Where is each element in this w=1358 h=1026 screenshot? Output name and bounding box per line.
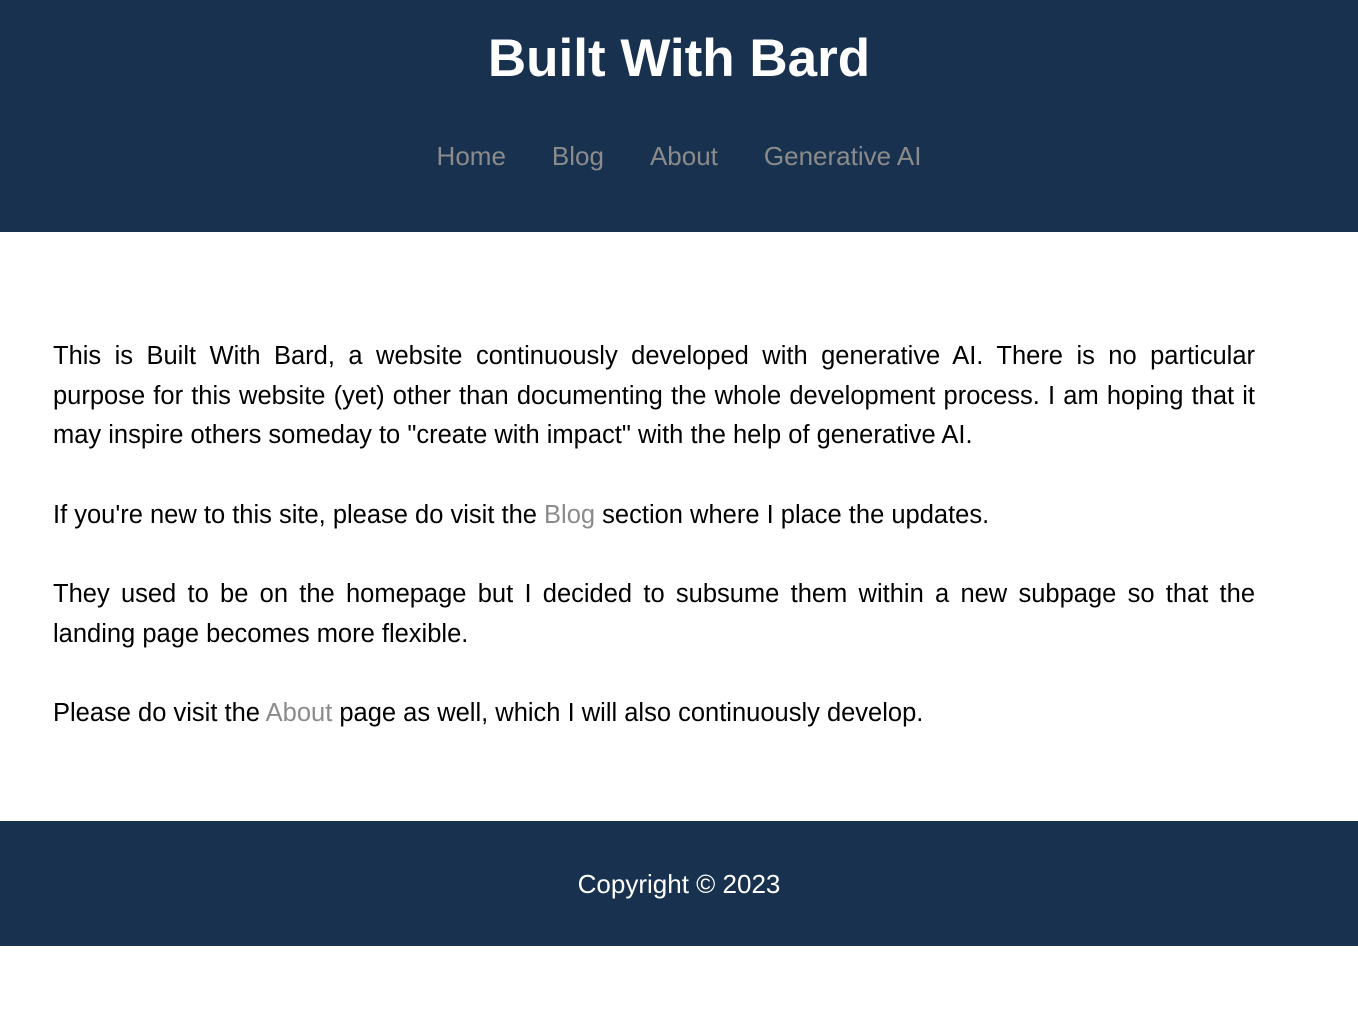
nav-item-about[interactable]: About: [627, 143, 741, 169]
main-content: This is Built With Bard, a website conti…: [0, 232, 1358, 821]
paragraph-subsume-note: They used to be on the homepage but I de…: [53, 575, 1255, 654]
inline-link-blog[interactable]: Blog: [544, 501, 595, 529]
site-footer: Copyright © 2023: [0, 821, 1358, 946]
nav-item-blog[interactable]: Blog: [529, 143, 627, 169]
paragraph-blog-pointer: If you're new to this site, please do vi…: [53, 496, 1255, 536]
nav-item-generative-ai[interactable]: Generative AI: [741, 143, 945, 169]
inline-link-about[interactable]: About: [266, 699, 333, 727]
site-header: Built With Bard Home Blog About Generati…: [0, 0, 1358, 232]
paragraph-blog-suffix: section where I place the updates.: [595, 501, 989, 529]
content-column: This is Built With Bard, a website conti…: [53, 337, 1255, 734]
nav-item-home[interactable]: Home: [414, 143, 529, 169]
paragraph-about-suffix: page as well, which I will also continuo…: [332, 699, 923, 727]
copyright-text: Copyright © 2023: [578, 871, 781, 897]
page-root: Built With Bard Home Blog About Generati…: [0, 0, 1358, 1026]
paragraph-intro: This is Built With Bard, a website conti…: [53, 337, 1255, 456]
page-title: Built With Bard: [488, 30, 870, 88]
page-bottom-spacer: [0, 946, 1358, 1026]
paragraph-blog-prefix: If you're new to this site, please do vi…: [53, 501, 544, 529]
main-navigation: Home Blog About Generative AI: [414, 143, 945, 169]
paragraph-about-pointer: Please do visit the About page as well, …: [53, 694, 1255, 734]
paragraph-about-prefix: Please do visit the: [53, 699, 266, 727]
